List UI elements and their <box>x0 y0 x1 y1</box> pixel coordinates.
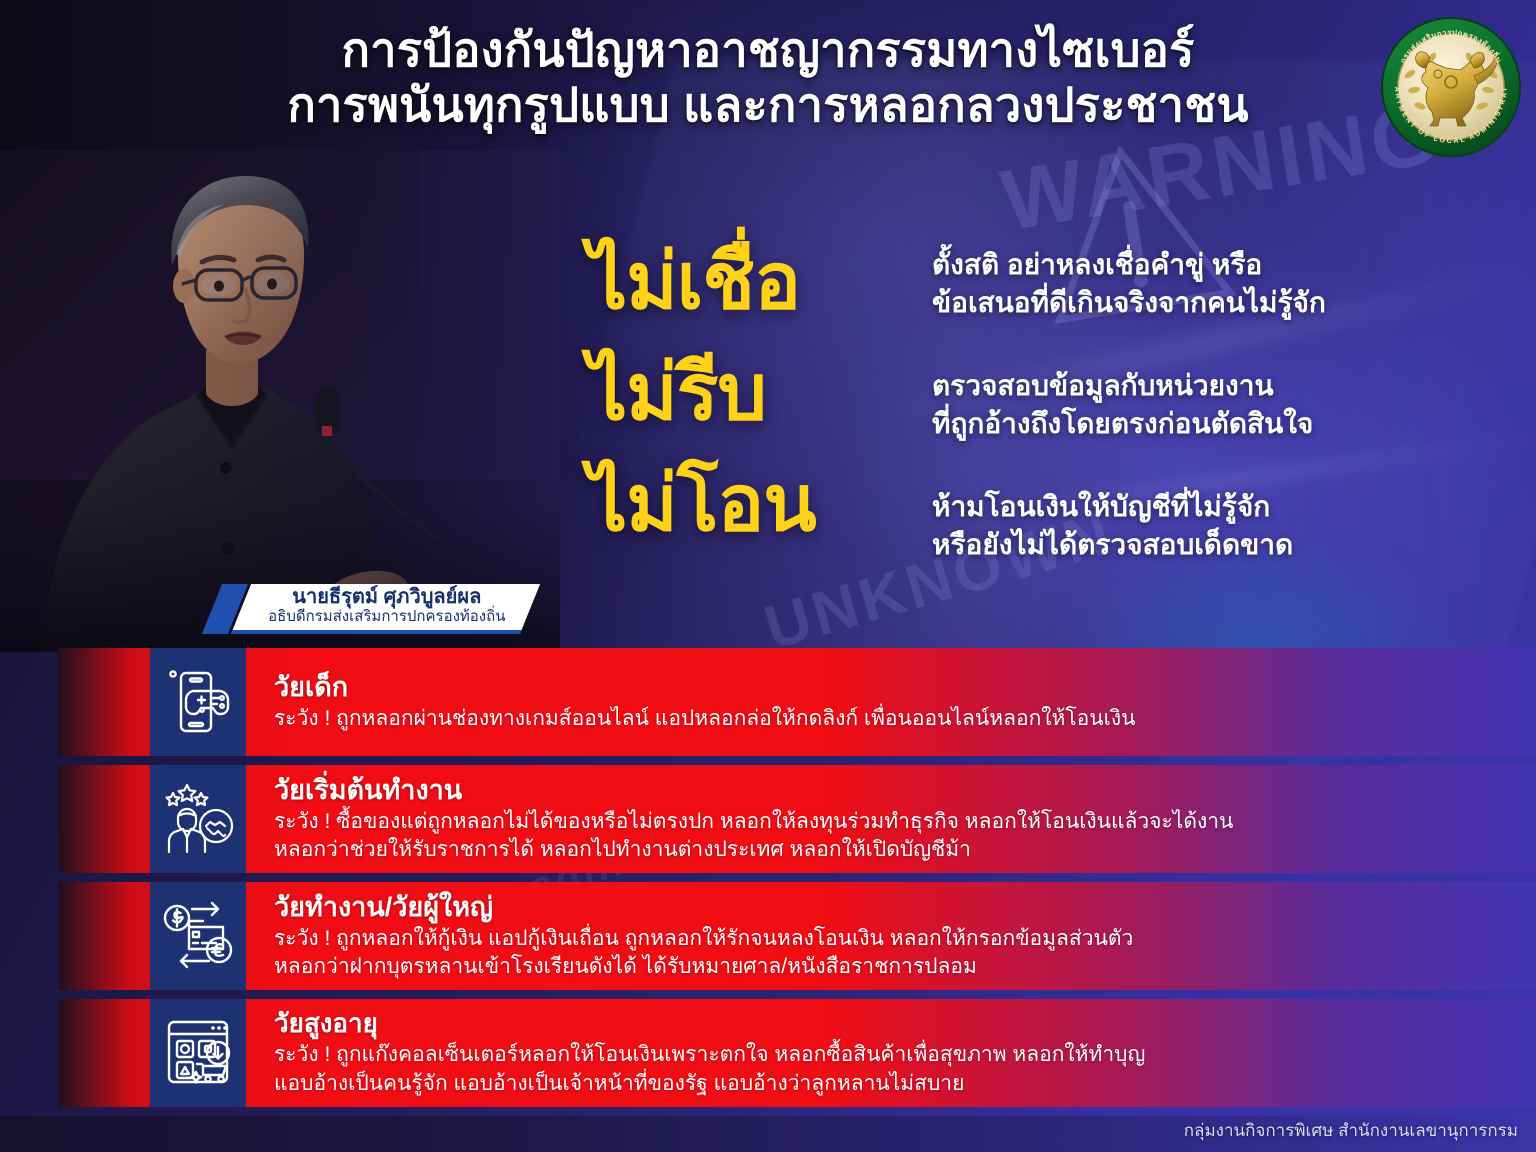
description-line-1: ตรวจสอบข้อมูลกับหน่วยงาน <box>932 370 1274 401</box>
age-group-row: วัยเด็ก ระวัง ! ถูกหลอกผ่านช่องทางเกมส์อ… <box>0 648 1536 756</box>
slogan-list: ไม่เชื่อ ไม่รีบ ไม่โอน <box>588 226 918 558</box>
age-group-line-2: แอบอ้างเป็นคนรู้จัก แอบอ้างเป็นเจ้าหน้าท… <box>274 1070 1536 1098</box>
description-item: ห้ามโอนเงินให้บัญชีที่ไม่รู้จัก หรือยังไ… <box>932 488 1472 563</box>
age-group-title: วัยทำงาน/วัยผู้ใหญ่ <box>274 891 1536 923</box>
description-line-2: ข้อเสนอที่ดีเกินจริงจากคนไม่รู้จัก <box>932 284 1472 322</box>
row-content: วัยทำงาน/วัยผู้ใหญ่ ระวัง ! ถูกหลอกให้กู… <box>246 882 1536 990</box>
row-content: วัยสูงอายุ ระวัง ! ถูกแก๊งคอลเซ็นเตอร์หล… <box>246 999 1536 1107</box>
age-group-list: วัยเด็ก ระวัง ! ถูกหลอกผ่านช่องทางเกมส์อ… <box>0 648 1536 1116</box>
row-content: วัยเริ่มต้นทำงาน ระวัง ! ซื้อของแต่ถูกหล… <box>246 765 1536 873</box>
department-seal-icon: กรมส่งเสริมการปกครองท้องถิ่น DEPARTMENT … <box>1378 14 1524 160</box>
age-group-row: วัยสูงอายุ ระวัง ! ถูกแก๊งคอลเซ็นเตอร์หล… <box>0 999 1536 1107</box>
age-group-title: วัยเด็ก <box>274 671 1536 703</box>
money-transfer-card-icon <box>150 882 246 990</box>
row-content: วัยเด็ก ระวัง ! ถูกหลอกผ่านช่องทางเกมส์อ… <box>246 648 1536 756</box>
slogan-item: ไม่รีบ <box>588 337 918 448</box>
age-group-line-1: ระวัง ! ซื้อของแต่ถูกหลอกไม่ได้ของหรือไม… <box>274 808 1536 836</box>
age-group-line-1: ระวัง ! ถูกหลอกผ่านช่องทางเกมส์ออนไลน์ แ… <box>274 705 1536 733</box>
description-line-1: ห้ามโอนเงินให้บัญชีที่ไม่รู้จัก <box>932 491 1270 522</box>
description-line-2: หรือยังไม่ได้ตรวจสอบเด็ดขาด <box>932 526 1472 564</box>
phone-gamepad-icon <box>150 648 246 756</box>
age-group-line-2: หลอกว่าฝากบุตรหลานเข้าโรงเรียนดังได้ ได้… <box>274 953 1536 981</box>
description-list: ตั้งสติ อย่าหลงเชื่อคำขู่ หรือ ข้อเสนอที… <box>932 246 1472 563</box>
age-group-line-1: ระวัง ! ถูกแก๊งคอลเซ็นเตอร์หลอกให้โอนเงิ… <box>274 1041 1536 1069</box>
poster-root: WARNING UNKNOWN Deadline <box>0 0 1536 1152</box>
online-shopping-browser-icon <box>150 999 246 1107</box>
nameplate-body: นายธีรุตม์ ศุภวิบูลย์ผล อธิบดีกรมส่งเสริ… <box>231 584 541 634</box>
age-group-line-2: หลอกว่าช่วยให้รับราชการได้ หลอกไปทำงานต่… <box>274 836 1536 864</box>
age-group-title: วัยสูงอายุ <box>274 1008 1536 1039</box>
speaker-photo <box>0 150 560 652</box>
age-group-row: วัยเริ่มต้นทำงาน ระวัง ! ซื้อของแต่ถูกหล… <box>0 765 1536 873</box>
age-group-title: วัยเริ่มต้นทำงาน <box>274 774 1536 806</box>
speaker-name: นายธีรุตม์ ศุภวิบูลย์ผล <box>268 587 505 608</box>
age-group-row: วัยทำงาน/วัยผู้ใหญ่ ระวัง ! ถูกหลอกให้กู… <box>0 882 1536 990</box>
footer-credit: กลุ่มงานกิจการพิเศษ สำนักงานเลขานุการกรม <box>1184 1117 1518 1144</box>
businessman-handshake-stars-icon <box>150 765 246 873</box>
description-line-1: ตั้งสติ อย่าหลงเชื่อคำขู่ หรือ <box>932 249 1262 280</box>
description-line-2: ที่ถูกอ้างถึงโดยตรงก่อนตัดสินใจ <box>932 405 1472 443</box>
speaker-role: อธิบดีกรมส่งเสริมการปกครองท้องถิ่น <box>268 608 505 625</box>
description-item: ตรวจสอบข้อมูลกับหน่วยงาน ที่ถูกอ้างถึงโด… <box>932 367 1472 442</box>
speaker-nameplate: นายธีรุตม์ ศุภวิบูลย์ผล อธิบดีกรมส่งเสริ… <box>212 584 530 634</box>
slogan-item: ไม่โอน <box>588 448 918 559</box>
description-item: ตั้งสติ อย่าหลงเชื่อคำขู่ หรือ ข้อเสนอที… <box>932 246 1472 321</box>
slogan-item: ไม่เชื่อ <box>588 226 918 337</box>
age-group-line-1: ระวัง ! ถูกหลอกให้กู้เงิน แอปกู้เงินเถื่… <box>274 925 1536 953</box>
